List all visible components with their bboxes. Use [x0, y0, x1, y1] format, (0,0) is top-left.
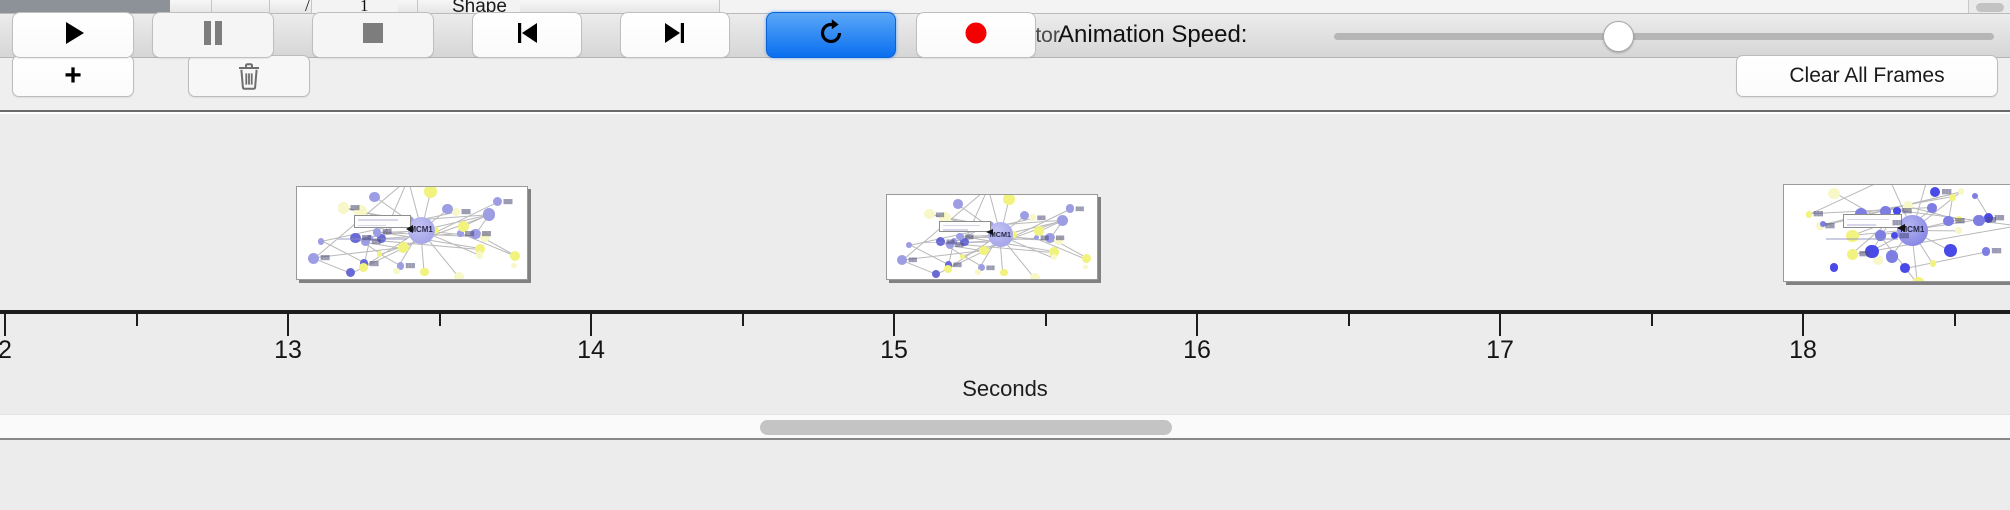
network-node-label: ███: [946, 239, 954, 244]
network-node: [476, 251, 483, 258]
network-node-label: ███: [1992, 248, 2001, 253]
network-node-label: ███: [936, 212, 944, 217]
network-node-label: ███: [370, 261, 379, 266]
trash-icon: [237, 63, 261, 90]
timeline-major-tick: [1196, 314, 1198, 336]
record-icon: [963, 20, 989, 51]
network-node: [359, 263, 368, 272]
network-node: [1082, 254, 1091, 263]
clear-all-frames-button[interactable]: Clear All Frames: [1736, 55, 1998, 97]
clear-all-frames-label: Clear All Frames: [1789, 64, 1944, 88]
previous-frame-button[interactable]: [472, 12, 582, 58]
timeline-major-tick: [893, 314, 895, 336]
network-edge: [313, 258, 350, 274]
timeline-major-tick: [590, 314, 592, 336]
timeline-tick-label: 17: [1486, 336, 1514, 365]
animation-speed-slider-thumb[interactable]: [1603, 21, 1634, 52]
network-node: [1949, 194, 1955, 200]
timeline-minor-tick: [1045, 314, 1047, 326]
network-node: [377, 251, 383, 257]
network-node: [1846, 230, 1858, 242]
network-node-label: ███: [351, 205, 360, 210]
network-node: [1847, 249, 1858, 260]
network-node-label: ███: [955, 242, 963, 247]
network-tooltip-text-line: [943, 225, 980, 226]
network-tooltip-text-line: [1847, 224, 1876, 226]
record-button[interactable]: [916, 12, 1036, 58]
network-node: [1083, 265, 1088, 270]
network-node-label: ███: [1056, 235, 1064, 240]
network-node: [1066, 204, 1075, 213]
playback-control-bar: [0, 440, 2010, 510]
network-node-label: ███: [1041, 235, 1049, 240]
network-node: [1828, 188, 1840, 200]
network-node: [510, 251, 520, 261]
network-node-label: ███: [1942, 189, 1951, 194]
network-node: [944, 265, 952, 273]
network-node: [1927, 203, 1937, 213]
animation-speed-slider[interactable]: [1334, 33, 1994, 40]
network-node-label: ███: [909, 257, 917, 262]
network-node: [1029, 214, 1036, 221]
stop-button[interactable]: [312, 12, 434, 58]
play-button[interactable]: [12, 12, 134, 58]
loop-button[interactable]: [766, 12, 896, 58]
timeline-minor-tick: [1954, 314, 1956, 326]
network-node-label: ███: [461, 209, 470, 214]
network-node: [1958, 188, 1964, 194]
network-node: [1886, 250, 1899, 263]
network-node-label: ███: [362, 235, 371, 240]
network-node: [1057, 215, 1068, 226]
network-node-label: ███: [986, 265, 994, 270]
network-node: [1912, 277, 1926, 282]
skip-back-icon: [513, 20, 541, 51]
skip-forward-icon: [661, 20, 689, 51]
timeline-frame-thumbnail[interactable]: MCM1█████████████████████████████████: [886, 194, 1098, 280]
network-node-label: ███: [406, 263, 415, 268]
network-node-label: ███: [482, 231, 491, 236]
timeline-minor-tick: [742, 314, 744, 326]
network-node: [483, 208, 496, 221]
network-node: [1900, 263, 1910, 273]
network-node: [1000, 269, 1008, 277]
axis-title: Seconds: [0, 376, 2010, 402]
network-canvas: MCM1█████████████████████████████████: [297, 187, 527, 279]
network-node-label: ███: [1902, 208, 1911, 213]
network-callout-pointer: [1897, 224, 1905, 232]
timeline-minor-tick: [1651, 314, 1653, 326]
network-node-label: ███: [1825, 223, 1834, 228]
network-node-label: ███: [321, 255, 330, 260]
network-node: [932, 270, 940, 278]
network-node: [393, 268, 399, 274]
scrollbar-thumb[interactable]: [760, 420, 1172, 435]
timeline-minor-tick: [439, 314, 441, 326]
network-node: [454, 272, 465, 280]
network-node: [1030, 273, 1040, 281]
network-node-label: ███: [1076, 206, 1084, 211]
timeline-axis: [0, 310, 2010, 314]
network-node-label: ███: [1859, 251, 1868, 256]
network-node: [308, 253, 319, 264]
network-node: [1930, 260, 1936, 266]
network-node: [1973, 215, 1985, 227]
network-node-label: ███: [1955, 218, 1964, 223]
network-node-label: ███: [372, 239, 381, 244]
next-frame-button[interactable]: [620, 12, 730, 58]
network-node: [1051, 254, 1058, 261]
network-node: [338, 202, 349, 213]
network-tooltip-text-line: [358, 225, 386, 226]
network-caption-line: [1826, 238, 1898, 240]
timeline-scrollbar[interactable]: [0, 414, 2010, 440]
plus-icon: +: [64, 61, 82, 91]
network-node-label: ███: [953, 262, 961, 267]
timeline-major-tick: [287, 314, 289, 336]
network-edge: [902, 260, 936, 274]
network-node: [906, 242, 912, 248]
timeline-tick-label: 15: [880, 336, 908, 365]
network-node: [1806, 211, 1812, 217]
network-canvas: MCM1█████████████████████████████████: [887, 195, 1097, 279]
timeline-tick-label: 13: [274, 336, 302, 365]
network-tooltip-text-line: [943, 229, 968, 230]
play-icon: [58, 18, 88, 53]
network-callout-pointer: [406, 225, 413, 233]
network-tooltip-text-line: [1847, 219, 1889, 221]
cyanimator-window: / 1 Shape CyAnimator + Clear Al: [0, 0, 2010, 510]
network-node: [493, 197, 502, 206]
network-node: [1003, 194, 1014, 205]
network-node-label: ███: [1814, 211, 1823, 216]
network-node: [1944, 244, 1957, 257]
network-node: [373, 228, 382, 237]
network-node: [1943, 216, 1954, 227]
network-node: [318, 238, 324, 244]
network-node: [953, 199, 963, 209]
network-node: [452, 208, 460, 216]
network-node-label: ███: [465, 231, 474, 236]
background-scrollbar[interactable]: [1968, 0, 2010, 14]
timeline-major-tick: [1499, 314, 1501, 336]
network-node: [424, 186, 437, 198]
network-node: [924, 209, 934, 219]
network-node: [975, 269, 981, 275]
network-node: [369, 192, 380, 203]
pause-icon: [200, 19, 226, 52]
network-node: [511, 263, 516, 268]
network-node: [1830, 263, 1839, 272]
frame-track[interactable]: MCM1█████████████████████████████████MCM…: [0, 114, 2010, 310]
network-canvas: MCM1█████████████████████████████████: [1784, 185, 2010, 281]
loop-icon: [816, 18, 846, 53]
network-node: [398, 242, 409, 253]
timeline-tick-label: 18: [1789, 336, 1817, 365]
network-node: [956, 233, 964, 241]
network-tooltip-text-line: [358, 219, 399, 220]
timeline-minor-tick: [1348, 314, 1350, 326]
network-node-label: ███: [503, 199, 512, 204]
network-node-label: ███: [1900, 233, 1909, 238]
network-node: [897, 255, 907, 265]
network-node: [1955, 227, 1961, 233]
network-node: [960, 254, 965, 259]
network-node: [1982, 247, 1991, 256]
animation-speed-label: Animation Speed:: [1058, 12, 1247, 58]
network-node: [346, 268, 355, 277]
timeline-tick-label: 14: [577, 336, 605, 365]
network-node-label: ███: [1893, 220, 1902, 225]
network-node-label: ███: [1995, 215, 2004, 220]
timeline-major-tick: [1802, 314, 1804, 336]
timeline-tick-label: 16: [1183, 336, 1211, 365]
timeline-frame-thumbnail[interactable]: MCM1█████████████████████████████████: [296, 186, 528, 280]
add-frame-button[interactable]: +: [12, 55, 134, 97]
network-node: [420, 268, 428, 276]
timeline-minor-tick: [136, 314, 138, 326]
timeline-tick-label: 2: [0, 336, 12, 365]
timeline-major-tick: [4, 314, 6, 336]
delete-frame-button[interactable]: [188, 55, 310, 97]
network-node-label: ███: [383, 229, 392, 234]
stop-icon: [360, 20, 386, 51]
pause-button[interactable]: [152, 12, 274, 58]
network-node-label: ███: [1037, 215, 1045, 220]
network-node-label: ███: [1987, 217, 1996, 222]
timeline-frame-thumbnail[interactable]: MCM1█████████████████████████████████: [1783, 184, 2010, 282]
network-node-label: ███: [965, 234, 973, 239]
network-callout-pointer: [986, 229, 993, 235]
